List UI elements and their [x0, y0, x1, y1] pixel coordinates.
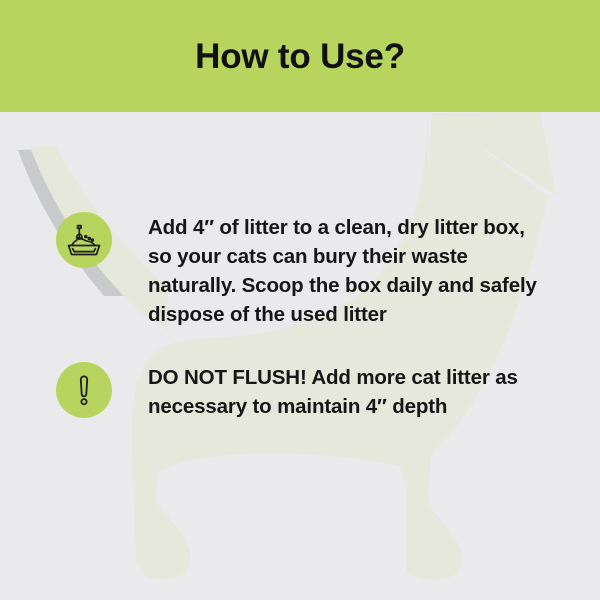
page-title: How to Use? [185, 39, 415, 74]
step-text: DO NOT FLUSH! Add more cat litter as nec… [148, 362, 544, 421]
step-text: Add 4″ of litter to a clean, dry litter … [148, 212, 544, 329]
step-icon-badge [56, 362, 112, 418]
litter-box-scoop-icon [64, 220, 104, 260]
header-band: How to Use? [0, 0, 600, 112]
cat-body [428, 112, 556, 195]
step-icon-badge [56, 212, 112, 268]
step-item: DO NOT FLUSH! Add more cat litter as nec… [0, 362, 600, 421]
how-to-use-infographic: How to Use? [0, 0, 600, 600]
cat-head-and-torso [132, 113, 548, 580]
exclamation-mark-icon [64, 370, 104, 410]
step-item: Add 4″ of litter to a clean, dry litter … [0, 212, 600, 329]
